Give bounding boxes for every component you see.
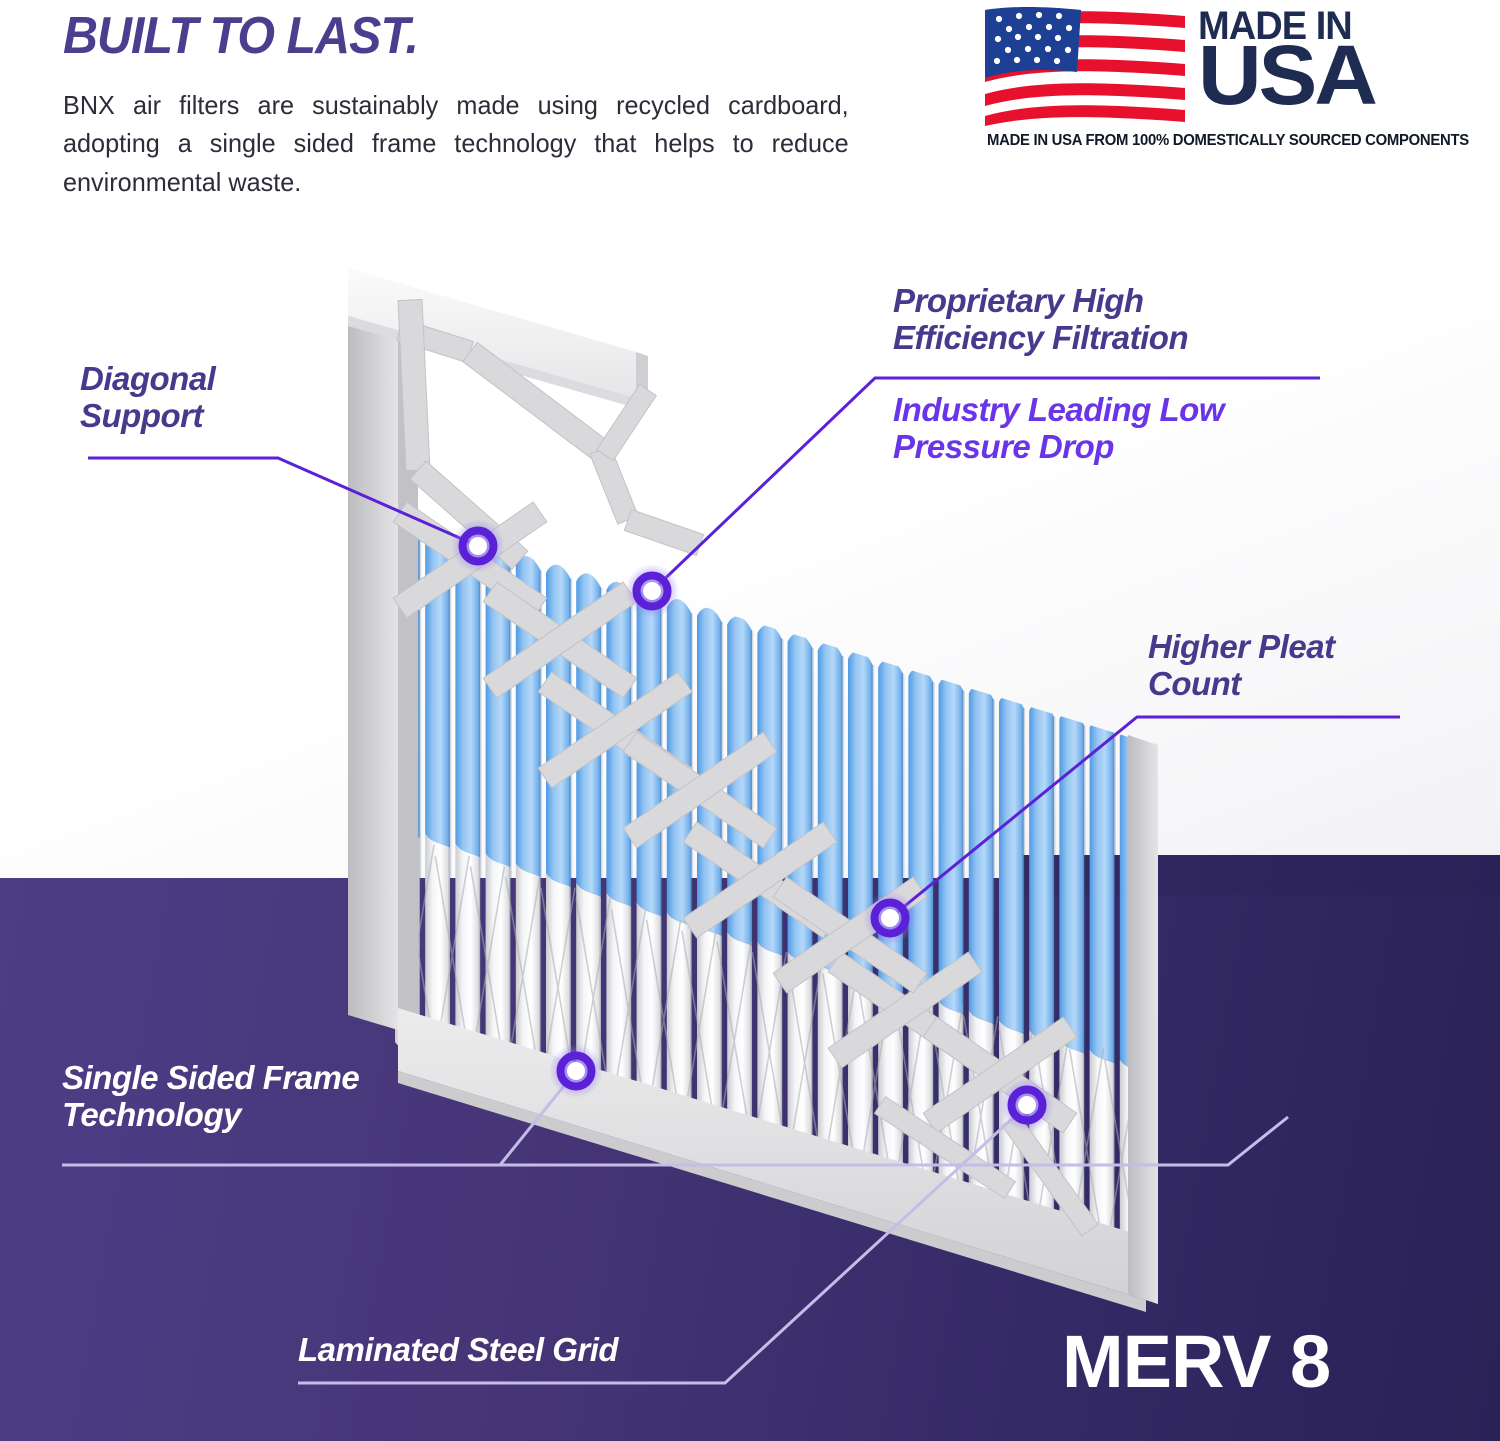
frame-right-cap — [1128, 735, 1158, 1304]
marker-laminated-steel-grid[interactable] — [1000, 1078, 1054, 1132]
filter-illustration — [0, 0, 1500, 1441]
marker-single-sided-frame[interactable] — [549, 1044, 603, 1098]
infographic-canvas: BUILT TO LAST. BNX air filters are susta… — [0, 0, 1500, 1441]
callout-label-single-sided-frame-technology: Single Sided Frame Technology — [62, 1060, 359, 1134]
page-headline: BUILT TO LAST. — [63, 6, 418, 66]
badge-usa-text: USA — [1198, 36, 1375, 116]
callout-label-higher-pleat-count: Higher Pleat Count — [1148, 629, 1335, 703]
badge-disclaimer: MADE IN USA FROM 100% DOMESTICALLY SOURC… — [987, 132, 1469, 150]
callout-label-diagonal-support: Diagonal Support — [80, 361, 215, 435]
callout-label-industry-leading-low-pressure-drop: Industry Leading Low Pressure Drop — [893, 392, 1224, 466]
page-body-copy: BNX air filters are sustainably made usi… — [63, 86, 849, 201]
merv-rating-label: MERV 8 — [1062, 1325, 1330, 1399]
callout-label-laminated-steel-grid: Laminated Steel Grid — [298, 1332, 618, 1369]
marker-diagonal-support[interactable] — [451, 519, 505, 573]
marker-higher-pleat-count[interactable] — [863, 891, 917, 945]
marker-proprietary-filtration[interactable] — [625, 564, 679, 618]
callout-label-proprietary-high-efficiency-filtration: Proprietary High Efficiency Filtration — [893, 283, 1188, 357]
made-in-usa-badge: MADE IN USA MADE IN USA FROM 100% DOMEST… — [985, 4, 1445, 154]
usa-flag-icon — [985, 6, 1185, 126]
